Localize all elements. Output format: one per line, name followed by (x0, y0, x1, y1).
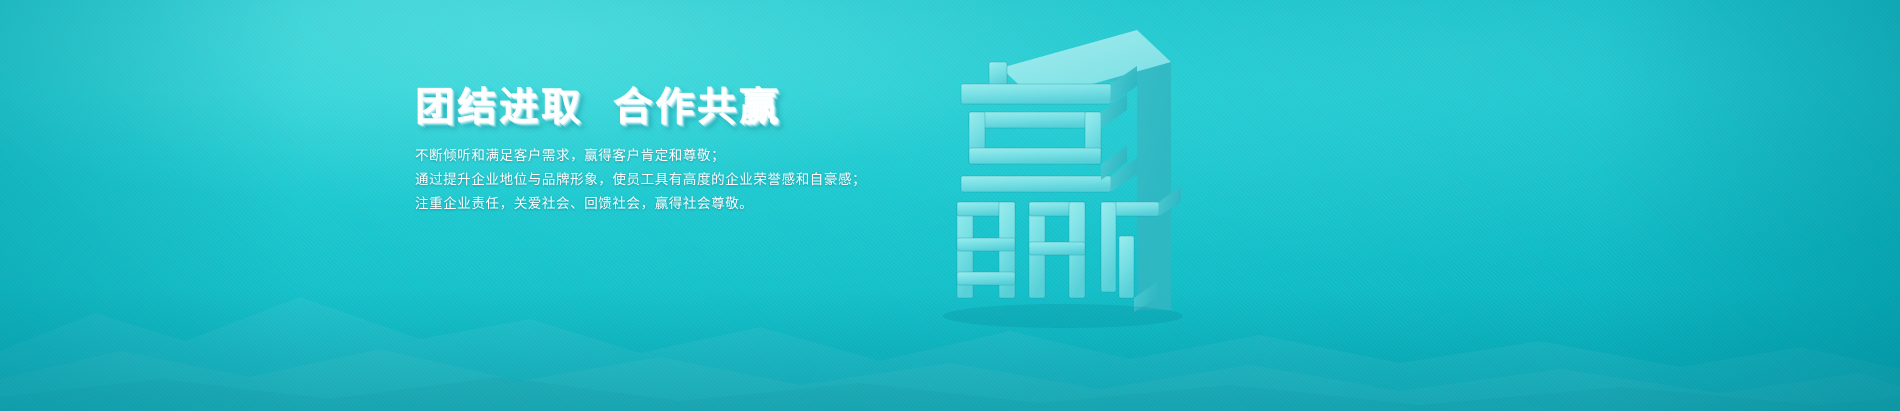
banner-content: 团结进取 合作共赢 不断倾听和满足客户需求，赢得客户肯定和尊敬； 通过提升企业地… (415, 86, 975, 216)
tagline-line-3: 注重企业责任，关爱社会、回馈社会，赢得社会尊敬。 (415, 192, 975, 216)
headline-part-1: 团结进取 (415, 86, 583, 130)
hero-banner: 团结进取 合作共赢 不断倾听和满足客户需求，赢得客户肯定和尊敬； 通过提升企业地… (0, 0, 1900, 411)
banner-tagline-list: 不断倾听和满足客户需求，赢得客户肯定和尊敬； 通过提升企业地位与品牌形象，使员工… (415, 144, 975, 216)
tagline-line-1: 不断倾听和满足客户需求，赢得客户肯定和尊敬； (415, 144, 975, 168)
headline-part-2: 合作共赢 (613, 86, 781, 130)
tagline-line-2: 通过提升企业地位与品牌形象，使员工具有高度的企业荣誉感和自豪感； (415, 168, 975, 192)
banner-headline: 团结进取 合作共赢 (415, 86, 975, 130)
